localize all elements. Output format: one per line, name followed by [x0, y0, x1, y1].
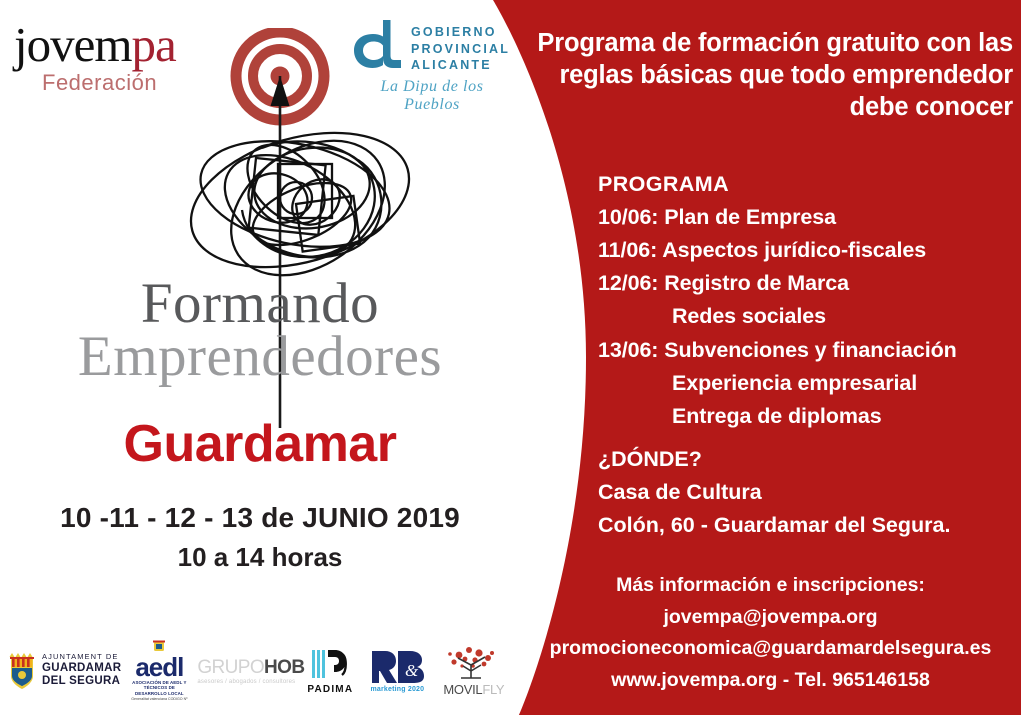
contact-web-phone[interactable]: www.jovempa.org - Tel. 965146158: [520, 665, 1021, 697]
venue-name: Casa de Cultura: [598, 476, 1018, 509]
jovempa-wordmark-red: pa: [131, 17, 175, 72]
aedl-logo: aedl ASOCIACIÓN DE AEDL Y TÉCNICOS DE DE…: [127, 640, 191, 702]
ajuntament-text: AJUNTAMENT DE GUARDAMAR DEL SEGURA: [42, 653, 121, 689]
poster-root: jovempa Federación: [0, 0, 1021, 715]
grupo-hob-logo: GRUPOHOB asesores / abogados / consultor…: [197, 658, 301, 685]
headline-text: Programa de formación gratuito con las r…: [528, 27, 1013, 123]
programa-item: Experiencia empresarial: [598, 367, 1018, 400]
grupo-hob-word-bold: HOB: [264, 657, 304, 678]
ajuntament-guardamar-logo: AJUNTAMENT DE GUARDAMAR DEL SEGURA: [8, 652, 121, 690]
contact-heading: Más información e inscripciones:: [520, 570, 1021, 602]
movilfly-word-light: FLY: [482, 682, 504, 697]
main-title-block: Formando Emprendedores: [0, 275, 520, 385]
contact-section: Más información e inscripciones: jovempa…: [520, 570, 1021, 696]
footer-logo-strip: AJUNTAMENT DE GUARDAMAR DEL SEGURA aedl …: [8, 636, 518, 706]
aedl-subtitle-1: ASOCIACIÓN DE AEDL Y TÉCNICOS DE DESARRO…: [127, 680, 191, 697]
jovempa-wordmark: jovempa: [14, 22, 229, 69]
programa-section: PROGRAMA 10/06: Plan de Empresa 11/06: A…: [598, 168, 1018, 433]
left-content-zone: jovempa Federación: [0, 0, 520, 715]
svg-text:&: &: [405, 661, 419, 680]
programa-item: Entrega de diplomas: [598, 400, 1018, 433]
aedl-subtitle-2: Generalitat valenciana CODIGO Nº: [127, 697, 191, 702]
city-title: Guardamar: [0, 414, 520, 474]
title-line-formando: Formando: [0, 275, 520, 332]
ajuntament-line-2: GUARDAMAR: [42, 662, 121, 676]
event-dates: 10 -11 - 12 - 13 de JUNIO 2019: [0, 502, 520, 534]
location-section: ¿DÓNDE? Casa de Cultura Colón, 60 - Guar…: [598, 443, 1018, 542]
padima-mark-icon: [308, 648, 352, 682]
ajuntament-line-3: DEL SEGURA: [42, 675, 121, 689]
diputacion-line-3: ALICANTE: [411, 57, 510, 74]
jovempa-wordmark-dark: jovem: [14, 17, 131, 72]
jovempa-logo: jovempa Federación: [14, 22, 229, 96]
rb-marketing-logo: & marketing 2020: [369, 649, 437, 693]
right-content-zone: Programa de formación gratuito con las r…: [520, 0, 1021, 715]
grupo-hob-subtitle: asesores / abogados / consultores: [197, 679, 304, 685]
movilfly-logo: MOVILFLY: [443, 645, 517, 697]
programa-item: 10/06: Plan de Empresa: [598, 201, 1018, 234]
movilfly-tree-icon: [445, 645, 503, 681]
padima-wordmark: PADIMA: [307, 684, 353, 695]
movilfly-wordmark: MOVILFLY: [443, 682, 504, 697]
programa-item: 11/06: Aspectos jurídico-fiscales: [598, 234, 1018, 267]
venue-address: Colón, 60 - Guardamar del Segura.: [598, 509, 1018, 542]
event-hours: 10 a 14 horas: [0, 542, 520, 573]
aedl-wordmark: aedl: [127, 654, 191, 680]
programa-item: 12/06: Registro de Marca: [598, 267, 1018, 300]
programa-item: 13/06: Subvenciones y financiación: [598, 334, 1018, 367]
guardamar-coat-of-arms-icon: [8, 652, 36, 690]
ajuntament-line-1: AJUNTAMENT DE: [42, 653, 121, 662]
title-line-emprendedores: Emprendedores: [0, 328, 520, 385]
diputacion-monogram-icon: [352, 18, 404, 76]
aedl-crest-icon: [151, 640, 167, 653]
donde-heading: ¿DÓNDE?: [598, 443, 1018, 476]
padima-logo: PADIMA: [307, 648, 363, 695]
rb-marketing-subtitle: marketing 2020: [369, 686, 425, 693]
jovempa-subtitle: Federación: [42, 70, 229, 96]
grupo-hob-wordmark: GRUPOHOB: [197, 658, 304, 677]
contact-email-1[interactable]: jovempa@jovempa.org: [520, 602, 1021, 634]
diputacion-tagline: La Dipu de los Pueblos: [352, 78, 512, 114]
diputacion-alicante-logo: GOBIERNO PROVINCIAL ALICANTE La Dipu de …: [352, 18, 512, 114]
movilfly-word-dark: MOVIL: [443, 682, 482, 697]
contact-email-2[interactable]: promocioneconomica@guardamardelsegura.es: [520, 633, 1021, 665]
diputacion-line-1: GOBIERNO: [411, 24, 510, 41]
grupo-hob-word-light: GRUPO: [197, 657, 264, 678]
programa-heading: PROGRAMA: [598, 168, 1018, 201]
diputacion-line-2: PROVINCIAL: [411, 41, 510, 58]
diputacion-text-block: GOBIERNO PROVINCIAL ALICANTE: [411, 18, 510, 74]
programa-item: Redes sociales: [598, 300, 1018, 333]
rb-monogram-icon: &: [369, 649, 425, 685]
